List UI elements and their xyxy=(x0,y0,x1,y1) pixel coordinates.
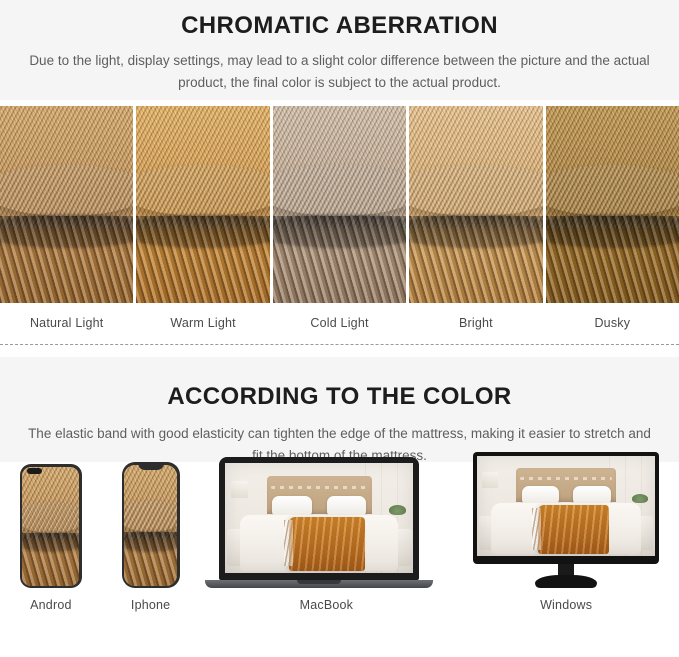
section-chromatic-aberration: CHROMATIC ABERRATION Due to the light, d… xyxy=(0,0,679,330)
device-cell-macbook[interactable]: MacBook xyxy=(219,457,433,612)
swatch-label-cold-light: Cold Light xyxy=(273,303,406,330)
device-row: Androd Iphone xyxy=(0,462,679,612)
swatch-cell-warm-light[interactable]: Warm Light xyxy=(136,106,269,330)
swatch-label-dusky: Dusky xyxy=(546,303,679,330)
macbook-screen xyxy=(225,463,413,573)
iphone-screen xyxy=(124,465,177,586)
android-phone-mockup xyxy=(20,464,82,588)
device-label-windows: Windows xyxy=(540,588,592,612)
chromatic-header-band: CHROMATIC ABERRATION Due to the light, d… xyxy=(0,0,679,100)
bedroom-scene-image-windows xyxy=(477,456,655,556)
fabric-swatch-image-cold-light xyxy=(273,106,406,303)
color-header-band: ACCORDING TO THE COLOR The elastic band … xyxy=(0,357,679,462)
monitor-frame xyxy=(473,452,659,564)
macbook-base xyxy=(205,580,433,588)
macbook-mockup xyxy=(219,457,433,588)
android-camera-cutout-icon xyxy=(27,468,42,474)
device-label-macbook: MacBook xyxy=(300,588,354,612)
chromatic-description: Due to the light, display settings, may … xyxy=(20,38,660,95)
fabric-swatch-image-natural-light xyxy=(0,106,133,303)
device-cell-android[interactable]: Androd xyxy=(20,464,82,612)
swatch-cell-natural-light[interactable]: Natural Light xyxy=(0,106,133,330)
swatch-label-natural-light: Natural Light xyxy=(0,303,133,330)
fabric-swatch-image-warm-light xyxy=(136,106,269,303)
fabric-closeup-image-android xyxy=(22,467,79,586)
device-label-android: Androd xyxy=(30,588,72,612)
swatch-cell-cold-light[interactable]: Cold Light xyxy=(273,106,406,330)
section-according-to-the-color: ACCORDING TO THE COLOR The elastic band … xyxy=(0,357,679,612)
color-title: ACCORDING TO THE COLOR xyxy=(0,371,679,409)
device-label-iphone: Iphone xyxy=(131,588,170,612)
fabric-swatch-image-dusky xyxy=(546,106,679,303)
android-screen xyxy=(22,467,79,586)
swatch-row: Natural Light Warm Light Cold Light Brig… xyxy=(0,100,679,330)
device-cell-windows[interactable]: Windows xyxy=(473,452,659,612)
macbook-lid xyxy=(219,457,419,580)
swatch-cell-bright[interactable]: Bright xyxy=(409,106,542,330)
fabric-closeup-image-iphone xyxy=(124,465,177,586)
iphone-notch-icon xyxy=(138,462,164,470)
iphone-mockup xyxy=(122,462,180,588)
swatch-label-warm-light: Warm Light xyxy=(136,303,269,330)
bedroom-scene-image-macbook xyxy=(225,463,413,573)
device-cell-iphone[interactable]: Iphone xyxy=(122,462,180,612)
monitor-screen xyxy=(477,456,655,556)
fabric-swatch-image-bright xyxy=(409,106,542,303)
swatch-cell-dusky[interactable]: Dusky xyxy=(546,106,679,330)
chromatic-title: CHROMATIC ABERRATION xyxy=(0,12,679,38)
monitor-base xyxy=(535,575,597,588)
section-divider xyxy=(0,344,679,345)
windows-monitor-mockup xyxy=(473,452,659,588)
swatch-label-bright: Bright xyxy=(409,303,542,330)
